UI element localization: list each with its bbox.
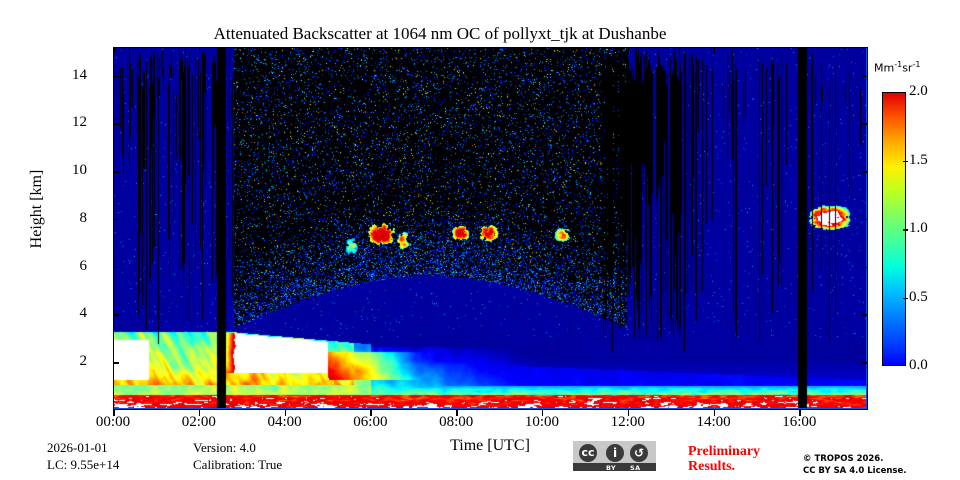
y-tick-mark-10: [862, 171, 868, 173]
y-tick-mark-8: [862, 219, 868, 221]
x-tick-mark-0000: [113, 47, 115, 53]
x-tick-mark-0800: [456, 47, 458, 53]
backscatter-heatmap: [113, 47, 868, 410]
y-tick-label-14: 14: [47, 67, 87, 84]
x-tick-label-0000: 00:00: [78, 414, 148, 431]
preliminary-results-notice: Preliminary Results.: [688, 444, 760, 474]
y-tick-label-6: 6: [47, 258, 87, 275]
y-tick-label-4: 4: [47, 305, 87, 322]
x-tick-label-1400: 14:00: [679, 414, 749, 431]
y-tick-mark-2: [113, 362, 119, 364]
x-tick-mark-0200: [199, 410, 201, 416]
cc-logo-icon: cc: [579, 444, 597, 462]
cc-attribution-icon: i: [606, 444, 624, 462]
y-axis-label: Height [km]: [28, 139, 46, 279]
footer-lidar-constant: LC: 9.55e+14: [47, 457, 119, 473]
colorbar-unit-sr: sr: [902, 62, 912, 75]
colorbar-tick-mark-0.5: [903, 298, 908, 300]
y-tick-mark-14: [862, 76, 868, 78]
x-tick-label-1600: 16:00: [764, 414, 834, 431]
colorbar-unit-exp1: -1: [894, 60, 902, 69]
x-tick-mark-0000: [113, 410, 115, 416]
x-tick-mark-1200: [628, 47, 630, 53]
x-tick-mark-1600: [799, 47, 801, 53]
y-tick-label-2: 2: [47, 353, 87, 370]
x-tick-mark-1400: [714, 47, 716, 53]
cc-by-label: BY: [606, 464, 616, 472]
x-tick-mark-0200: [199, 47, 201, 53]
y-tick-mark-10: [113, 171, 119, 173]
y-tick-mark-14: [113, 76, 119, 78]
preliminary-line-2: Results.: [688, 459, 760, 474]
x-tick-mark-1600: [799, 410, 801, 416]
x-tick-label-0400: 04:00: [250, 414, 320, 431]
colorbar-tick-mark-1.5: [903, 161, 908, 163]
x-tick-mark-1200: [628, 410, 630, 416]
x-tick-label-0600: 06:00: [335, 414, 405, 431]
y-tick-mark-12: [113, 123, 119, 125]
y-tick-mark-6: [113, 267, 119, 269]
x-tick-mark-0600: [370, 47, 372, 53]
x-tick-mark-1000: [542, 410, 544, 416]
y-tick-mark-2: [862, 362, 868, 364]
cc-sharealike-icon: ↺: [630, 444, 648, 462]
x-tick-mark-0400: [285, 47, 287, 53]
footer-calibration: Calibration: True: [193, 457, 282, 473]
x-tick-label-1200: 12:00: [593, 414, 663, 431]
y-tick-mark-6: [862, 267, 868, 269]
page-title: Attenuated Backscatter at 1064 nm OC of …: [0, 24, 880, 44]
creative-commons-badge: cc i ↺ BY SA: [573, 441, 656, 471]
colorbar-tick-0.0: 0.0: [909, 357, 928, 374]
y-tick-mark-4: [862, 314, 868, 316]
heatmap-canvas: [114, 48, 866, 408]
y-tick-mark-4: [113, 314, 119, 316]
x-tick-mark-0600: [370, 410, 372, 416]
x-tick-label-0800: 08:00: [421, 414, 491, 431]
footer-version: Version: 4.0: [193, 440, 256, 456]
colorbar-unit-exp2: -1: [912, 60, 920, 69]
x-tick-mark-0400: [285, 410, 287, 416]
y-tick-label-12: 12: [47, 114, 87, 131]
x-tick-mark-1000: [542, 47, 544, 53]
cc-sa-label: SA: [630, 464, 641, 472]
x-tick-mark-1400: [714, 410, 716, 416]
copyright-notice: © TROPOS 2026. CC BY SA 4.0 License.: [803, 453, 906, 477]
colorbar-tick-mark-1.0: [903, 229, 908, 231]
y-tick-label-8: 8: [47, 210, 87, 227]
y-tick-mark-12: [862, 123, 868, 125]
copyright-line-1: © TROPOS 2026.: [803, 453, 906, 465]
colorbar-unit-label: Mm-1sr-1: [874, 60, 920, 75]
y-tick-mark-8: [113, 219, 119, 221]
colorbar-tick-1.5: 1.5: [909, 152, 928, 169]
colorbar-tick-0.5: 0.5: [909, 289, 928, 306]
copyright-line-2: CC BY SA 4.0 License.: [803, 465, 906, 477]
x-tick-label-0200: 02:00: [164, 414, 234, 431]
colorbar-unit-mm: Mm: [874, 62, 894, 75]
colorbar-tick-1.0: 1.0: [909, 220, 928, 237]
x-tick-mark-0800: [456, 410, 458, 416]
footer-date: 2026-01-01: [47, 440, 108, 456]
cc-badge-icons: cc i ↺: [573, 441, 656, 463]
y-tick-label-10: 10: [47, 162, 87, 179]
colorbar-tick-2.0: 2.0: [909, 83, 928, 100]
x-tick-label-1000: 10:00: [507, 414, 577, 431]
preliminary-line-1: Preliminary: [688, 444, 760, 459]
